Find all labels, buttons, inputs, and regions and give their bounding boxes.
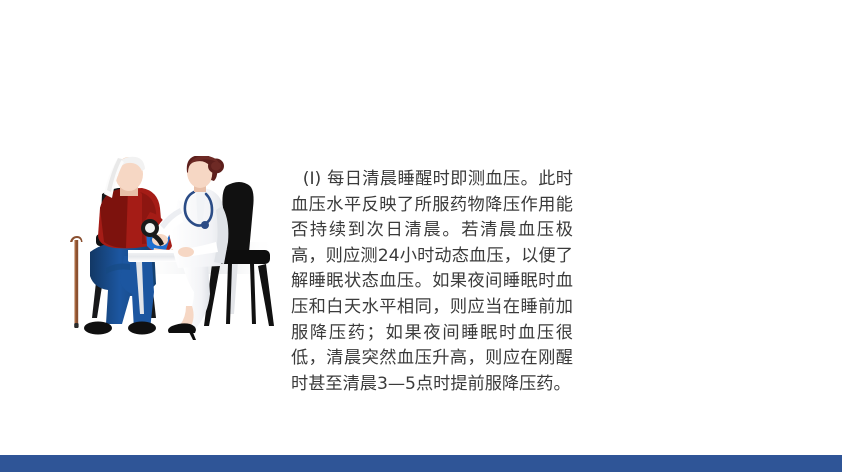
walking-cane-icon [70, 236, 83, 328]
body-paragraph: (I) 每日清晨睡醒时即测血压。此时血压水平反映了所服药物降压作用能否持续到次日… [291, 167, 573, 397]
doctor-measuring-blood-pressure-illustration [66, 156, 282, 352]
footer-accent-band [0, 455, 842, 472]
slide-canvas: (I) 每日清晨睡醒时即测血压。此时血压水平反映了所服药物降压作用能否持续到次日… [0, 0, 842, 474]
